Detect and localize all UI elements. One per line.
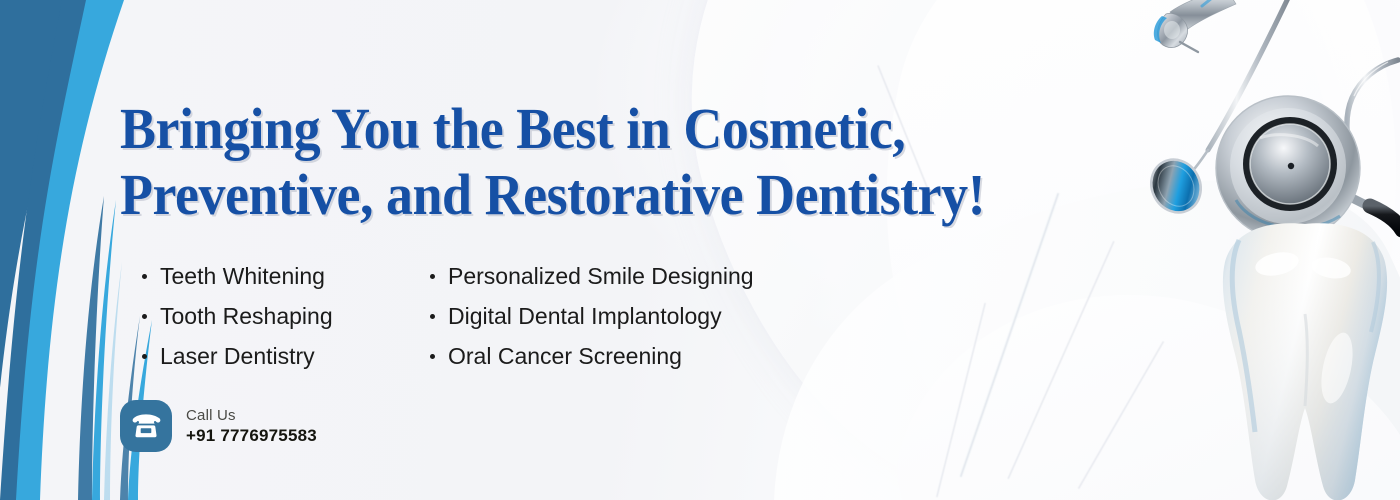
molar-tooth-3d xyxy=(1205,218,1400,500)
page-title: Bringing You the Best in Cosmetic, Preve… xyxy=(120,96,1059,228)
list-item: Personalized Smile Designing xyxy=(424,256,754,296)
call-us-block[interactable]: Call Us +91 7776975583 xyxy=(120,400,317,452)
list-item: Oral Cancer Screening xyxy=(424,336,754,376)
services-lists: Teeth Whitening Tooth Reshaping Laser De… xyxy=(136,256,754,376)
telephone-glyph xyxy=(131,413,161,439)
services-column-1: Teeth Whitening Tooth Reshaping Laser De… xyxy=(136,256,424,376)
telephone-icon[interactable] xyxy=(120,400,172,452)
dental-handpiece-icon xyxy=(1154,0,1236,52)
call-us-text: Call Us +91 7776975583 xyxy=(186,406,317,447)
phone-number[interactable]: +91 7776975583 xyxy=(186,425,317,447)
call-us-label: Call Us xyxy=(186,406,317,425)
list-item: Tooth Reshaping xyxy=(136,296,424,336)
dental-banner: Bringing You the Best in Cosmetic, Preve… xyxy=(0,0,1400,500)
services-column-2: Personalized Smile Designing Digital Den… xyxy=(424,256,754,376)
list-item: Teeth Whitening xyxy=(136,256,424,296)
list-item: Laser Dentistry xyxy=(136,336,424,376)
list-item: Digital Dental Implantology xyxy=(424,296,754,336)
